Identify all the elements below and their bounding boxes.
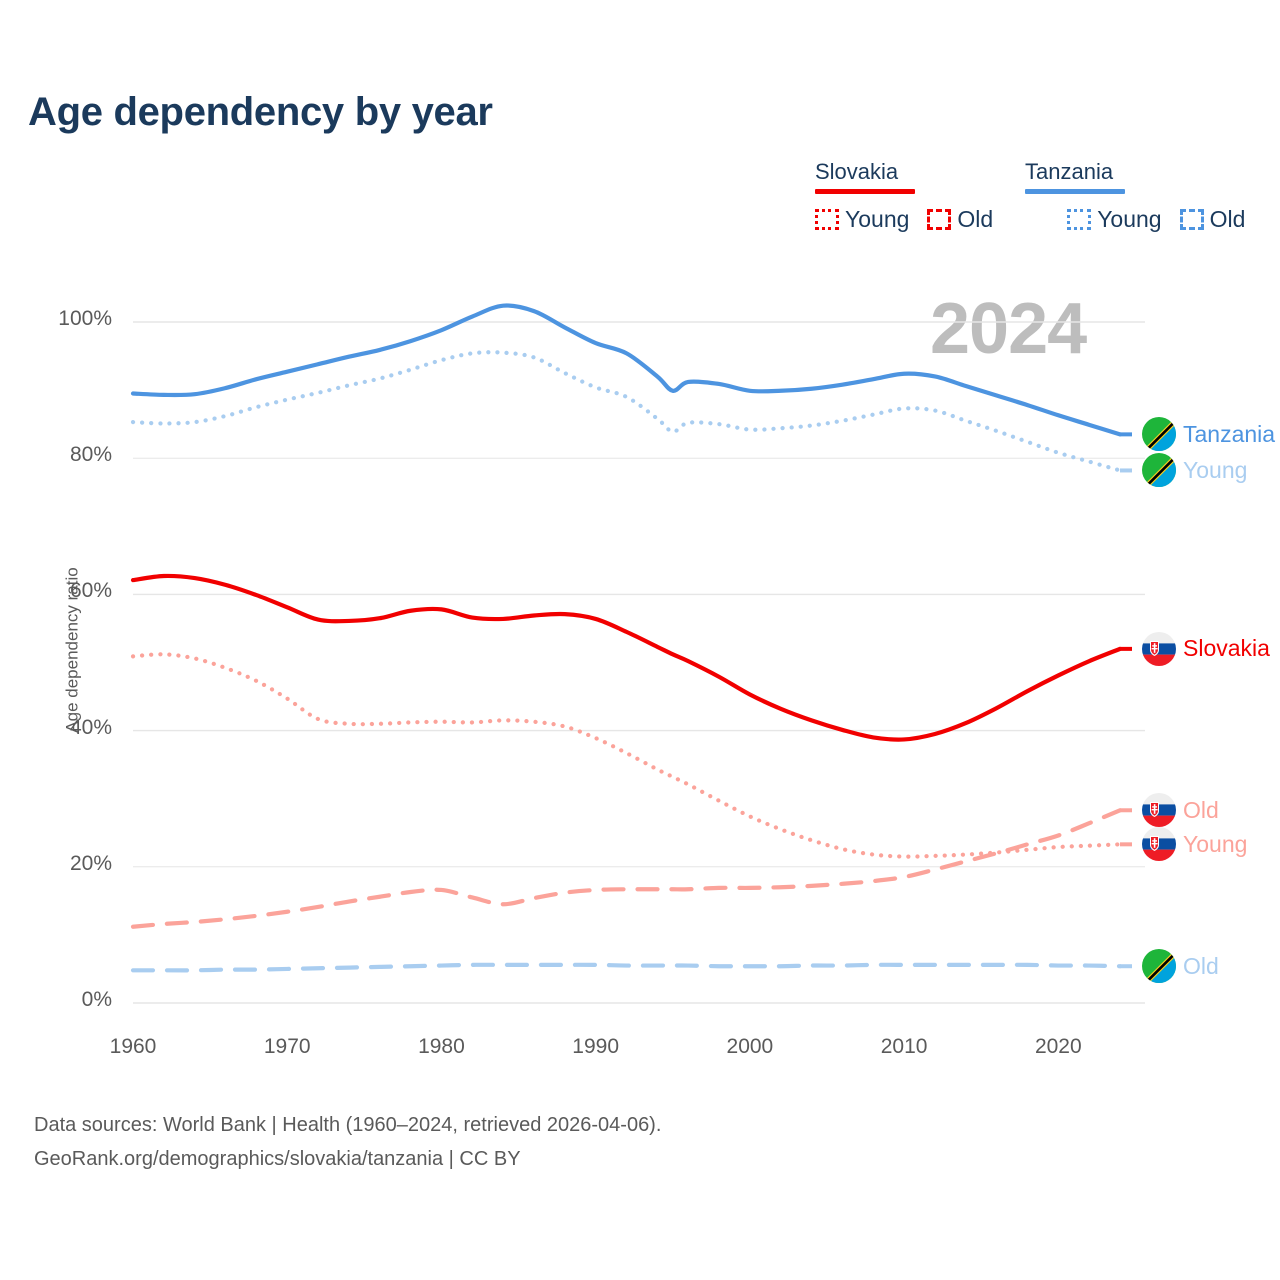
footer: Data sources: World Bank | Health (1960–… — [34, 1108, 661, 1176]
plot-area: Age dependency ratio 2024 0%20%40%60%80%… — [0, 0, 1280, 1280]
x-tick-label: 1980 — [396, 1035, 486, 1059]
x-tick-label: 2010 — [859, 1035, 949, 1059]
end-label-text: Young — [1183, 457, 1247, 484]
x-tick-label: 1990 — [551, 1035, 641, 1059]
end-label-slovakia-slovakia[interactable]: Slovakia — [1142, 632, 1270, 666]
footer-line-sources: Data sources: World Bank | Health (1960–… — [34, 1108, 661, 1142]
chart-canvas — [0, 0, 1280, 1280]
y-tick-label: 20% — [22, 852, 112, 876]
end-label-slovakia-young[interactable]: Young — [1142, 827, 1247, 861]
end-label-tanzania-young[interactable]: Young — [1142, 453, 1247, 487]
end-label-text: Young — [1183, 831, 1247, 858]
end-label-text: Old — [1183, 797, 1219, 824]
series-line-tanzania — [133, 305, 1120, 434]
x-tick-label: 2000 — [705, 1035, 795, 1059]
end-label-tanzania-tanzania[interactable]: Tanzania — [1142, 417, 1275, 451]
end-label-tanzania-old[interactable]: Old — [1142, 949, 1219, 983]
end-label-slovakia-old[interactable]: Old — [1142, 793, 1219, 827]
slovakia-flag-icon — [1142, 827, 1176, 861]
end-label-text: Old — [1183, 953, 1219, 980]
y-tick-label: 40% — [22, 716, 112, 740]
series-line-tanzania-old — [133, 965, 1120, 971]
y-tick-label: 60% — [22, 579, 112, 603]
tanzania-flag-icon — [1142, 417, 1176, 451]
footer-line-attribution: GeoRank.org/demographics/slovakia/tanzan… — [34, 1142, 661, 1176]
end-label-text: Tanzania — [1183, 421, 1275, 448]
tanzania-flag-icon — [1142, 949, 1176, 983]
x-tick-label: 1960 — [88, 1035, 178, 1059]
y-tick-label: 0% — [22, 988, 112, 1012]
end-label-text: Slovakia — [1183, 635, 1270, 662]
y-tick-label: 80% — [22, 443, 112, 467]
slovakia-flag-icon — [1142, 793, 1176, 827]
x-tick-label: 2020 — [1013, 1035, 1103, 1059]
chart-page: Age dependency by year Slovakia Tanzania… — [0, 0, 1280, 1280]
series-line-slovakia-old — [133, 810, 1120, 926]
slovakia-flag-icon — [1142, 632, 1176, 666]
y-tick-label: 100% — [22, 307, 112, 331]
series-line-slovakia-young — [133, 654, 1120, 856]
series-line-slovakia — [133, 576, 1120, 740]
x-tick-label: 1970 — [242, 1035, 332, 1059]
series-line-tanzania-young — [133, 352, 1120, 470]
tanzania-flag-icon — [1142, 453, 1176, 487]
